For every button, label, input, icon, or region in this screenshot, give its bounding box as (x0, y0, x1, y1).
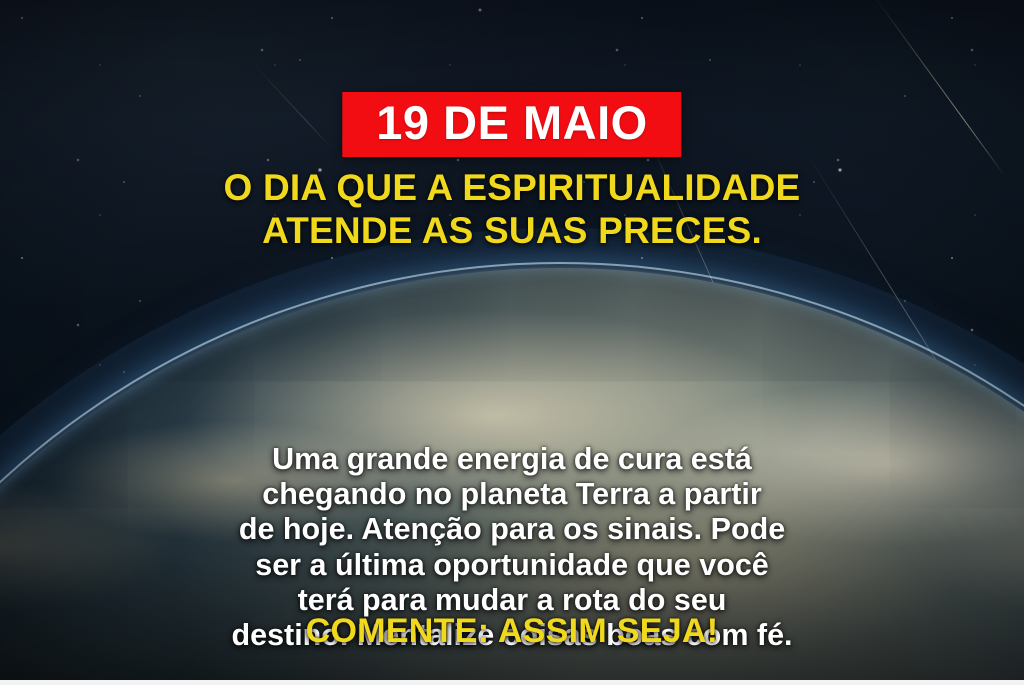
headline-line-2: ATENDE AS SUAS PRECES. (34, 209, 990, 252)
poster-content: 19 DE MAIO O DIA QUE A ESPIRITUALIDADE A… (0, 0, 1024, 685)
body-line-1: Uma grande energia de cura está (26, 442, 998, 477)
headline-line-1: O DIA QUE A ESPIRITUALIDADE (34, 166, 990, 209)
date-badge-label: 19 DE MAIO (376, 99, 647, 147)
body-line-3: de hoje. Atenção para os sinais. Pode (26, 512, 998, 547)
date-badge: 19 DE MAIO (342, 92, 681, 157)
body-line-2: chegando no planeta Terra a partir (26, 477, 998, 512)
poster-canvas: 19 DE MAIO O DIA QUE A ESPIRITUALIDADE A… (0, 0, 1024, 685)
call-to-action: COMENTE: ASSIM SEJA! (0, 612, 1024, 651)
body-line-4: ser a última oportunidade que você (26, 548, 998, 583)
bottom-strip (0, 680, 1024, 685)
headline: O DIA QUE A ESPIRITUALIDADE ATENDE AS SU… (0, 166, 1024, 253)
